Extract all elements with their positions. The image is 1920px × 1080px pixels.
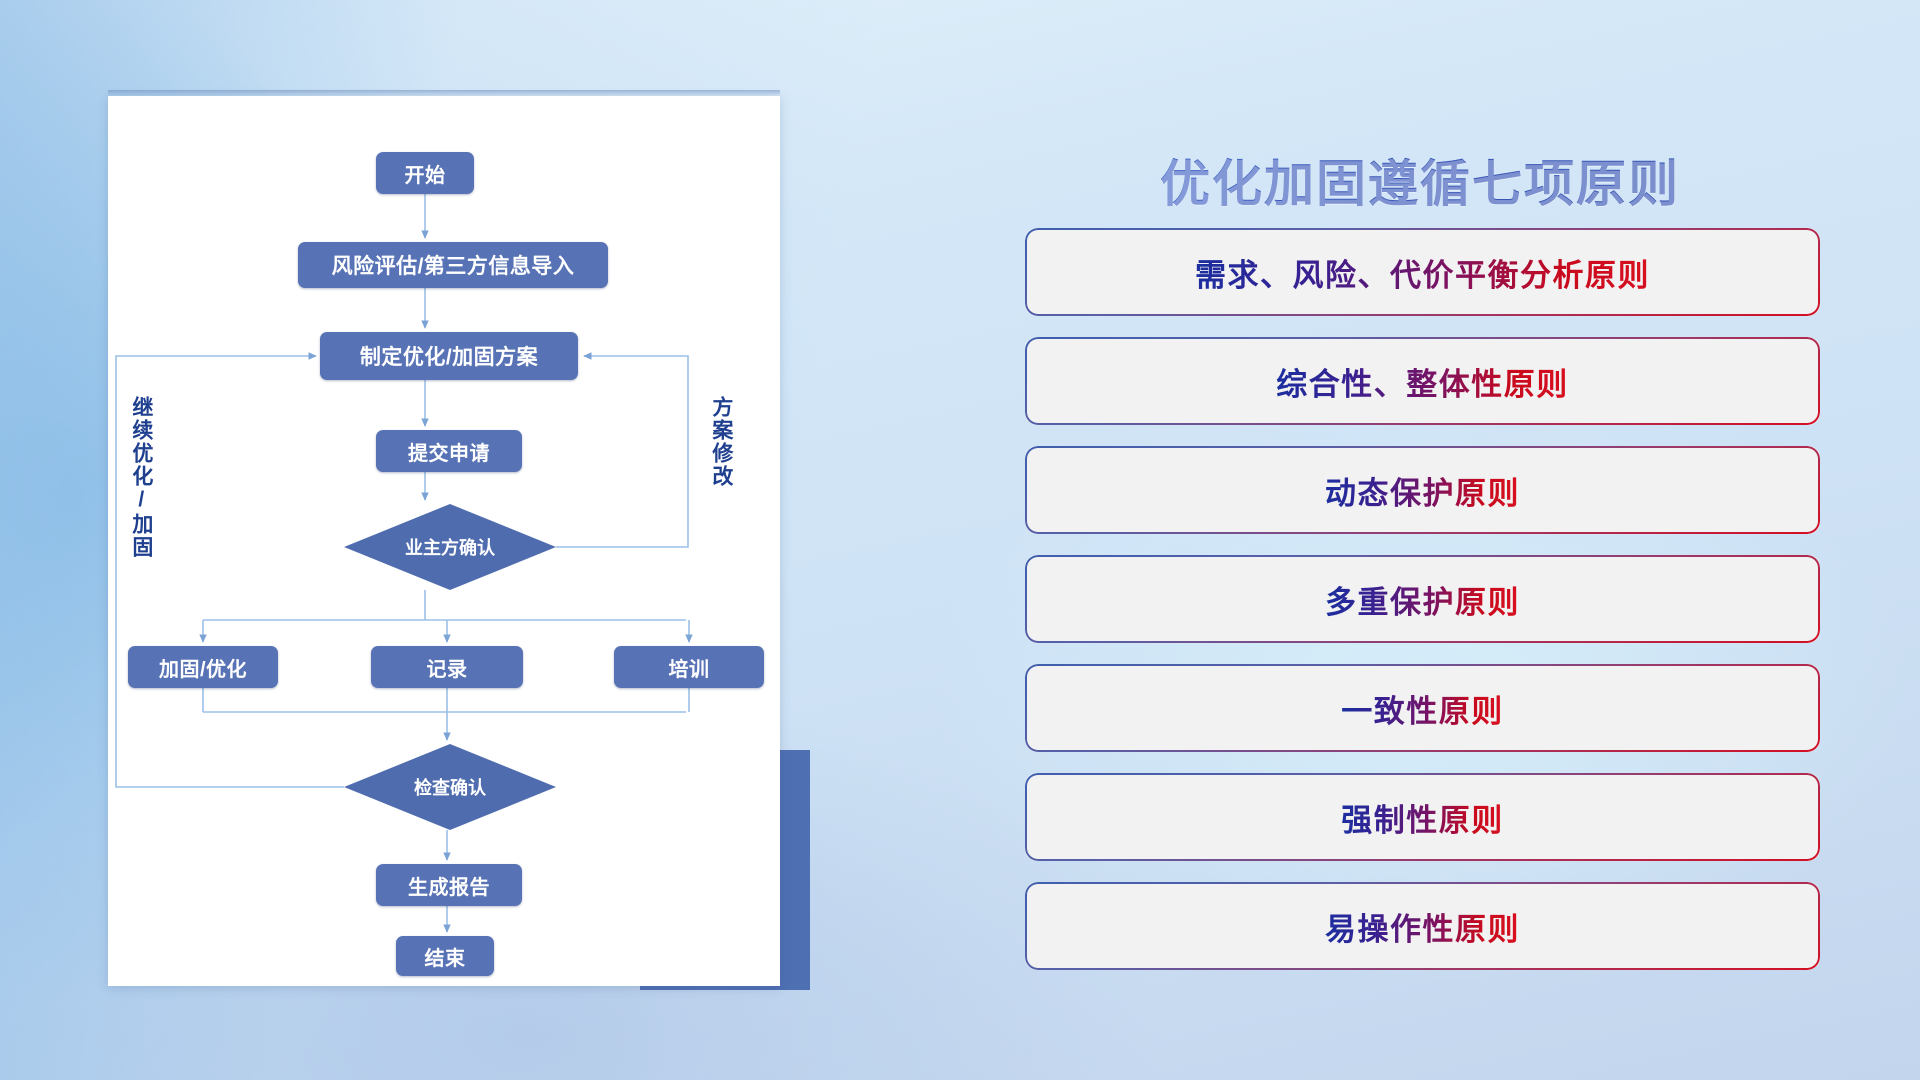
flow-loop-label-text: 继续优化/加固 xyxy=(130,396,153,559)
flow-loop-label-continue-optimize: 继续优化/加固 xyxy=(130,396,152,559)
flow-node-label: 检查确认 xyxy=(414,774,486,800)
principle-card[interactable]: 易操作性原则 xyxy=(1025,882,1820,970)
principle-label: 多重保护原则 xyxy=(1325,577,1520,622)
flow-node-end[interactable]: 结束 xyxy=(396,936,494,976)
flow-node-record[interactable]: 记录 xyxy=(371,646,523,688)
flow-node-generate-report[interactable]: 生成报告 xyxy=(376,864,522,906)
flow-node-label: 提交申请 xyxy=(408,437,490,466)
flow-node-label: 制定优化/加固方案 xyxy=(360,341,538,371)
flow-node-label: 风险评估/第三方信息导入 xyxy=(332,250,575,280)
flow-node-label: 记录 xyxy=(427,653,468,682)
flow-node-start[interactable]: 开始 xyxy=(376,152,474,194)
principle-card[interactable]: 一致性原则 xyxy=(1025,664,1820,752)
flowchart-card: 开始 风险评估/第三方信息导入 制定优化/加固方案 提交申请 业主方确认 加固/… xyxy=(108,96,780,986)
principle-label: 强制性原则 xyxy=(1341,795,1504,840)
principle-label: 易操作性原则 xyxy=(1325,904,1520,949)
flow-node-reinforce-optimize[interactable]: 加固/优化 xyxy=(128,646,278,688)
flow-loop-label-plan-revision: 方案修改 xyxy=(710,396,732,488)
principle-card[interactable]: 动态保护原则 xyxy=(1025,446,1820,534)
page-title: 优化加固遵循七项原则 xyxy=(1020,144,1820,216)
flow-node-make-plan[interactable]: 制定优化/加固方案 xyxy=(320,332,578,380)
principle-label: 动态保护原则 xyxy=(1325,468,1520,513)
principle-card[interactable]: 需求、风险、代价平衡分析原则 xyxy=(1025,228,1820,316)
flow-loop-label-text: 方案修改 xyxy=(710,396,733,488)
flow-node-training[interactable]: 培训 xyxy=(614,646,764,688)
flow-node-label: 生成报告 xyxy=(408,871,490,900)
flow-node-submit-application[interactable]: 提交申请 xyxy=(376,430,522,472)
principle-label: 需求、风险、代价平衡分析原则 xyxy=(1195,250,1650,295)
flow-node-label: 开始 xyxy=(405,159,446,188)
principles-list: 需求、风险、代价平衡分析原则 综合性、整体性原则 动态保护原则 多重保护原则 一… xyxy=(1025,228,1820,991)
principle-card[interactable]: 综合性、整体性原则 xyxy=(1025,337,1820,425)
principle-label: 一致性原则 xyxy=(1341,686,1504,731)
principle-card[interactable]: 强制性原则 xyxy=(1025,773,1820,861)
flow-node-label: 业主方确认 xyxy=(405,534,495,560)
flow-node-label: 加固/优化 xyxy=(159,653,247,682)
flow-node-label: 结束 xyxy=(425,942,466,971)
principle-card[interactable]: 多重保护原则 xyxy=(1025,555,1820,643)
flow-node-label: 培训 xyxy=(669,653,710,682)
principle-label: 综合性、整体性原则 xyxy=(1276,359,1569,404)
flow-node-risk-assessment[interactable]: 风险评估/第三方信息导入 xyxy=(298,242,608,288)
